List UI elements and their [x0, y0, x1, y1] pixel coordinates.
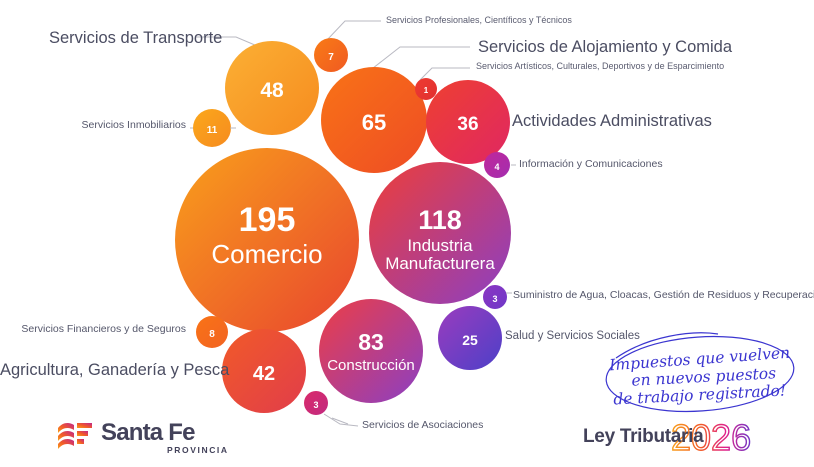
bubble-value-administrativas: 36 — [457, 114, 478, 135]
bubble-value-artisticos: 1 — [424, 86, 429, 95]
label-transporte: Servicios de Transporte — [49, 29, 222, 47]
bubble-value-profesionales: 7 — [328, 52, 334, 63]
bubble-value-agua: 3 — [492, 294, 497, 304]
santa-fe-wordmark: Santa Fe — [101, 419, 195, 447]
bubble-value-comercio: 195 — [239, 201, 296, 239]
bubble-value-inmobiliarios: 11 — [207, 125, 218, 136]
label-administrativas: Actividades Administrativas — [512, 112, 712, 130]
label-agricultura: Agricultura, Ganadería y Pesca — [0, 361, 222, 379]
label-inmobiliarios: Servicios Inmobiliarios — [0, 120, 186, 132]
bubble-value-construccion: 83 — [358, 329, 384, 355]
bubble-value-transporte: 48 — [260, 79, 284, 102]
bubble-value-salud: 25 — [462, 332, 478, 348]
handwritten-callout: Impuestos que vuelven en nuevos puestos … — [600, 330, 800, 418]
bubble-value-industria: 118 — [418, 205, 462, 235]
bubble-label-industria-line1: Industria — [407, 236, 473, 255]
bubble-label-industria-line2: Manufacturera — [385, 254, 495, 273]
bubble-value-agricultura: 42 — [253, 363, 275, 385]
santa-fe-subtitle: PROVINCIA — [167, 445, 229, 455]
infographic-canvas: 195 Comercio 118 Industria Manufacturera… — [0, 0, 814, 467]
label-alojamiento: Servicios de Alojamiento y Comida — [478, 38, 732, 56]
ley-tributaria-wordmark: Ley Tributaria — [583, 426, 703, 448]
label-artisticos: Servicios Artísticos, Culturales, Deport… — [476, 62, 724, 72]
bubble-label-comercio: Comercio — [211, 239, 322, 269]
bubble-label-construccion: Construcción — [327, 357, 415, 374]
bubble-value-alojamiento: 65 — [362, 110, 386, 135]
label-profesionales: Servicios Profesionales, Científicos y T… — [386, 16, 572, 26]
leader-profesionales — [327, 21, 381, 40]
bubble-value-asociaciones: 3 — [313, 400, 318, 410]
label-asociaciones: Servicios de Asociaciones — [362, 420, 483, 432]
label-financieros: Servicios Financieros y de Seguros — [0, 324, 186, 336]
label-agua: Suministro de Agua, Cloacas, Gestión de … — [513, 290, 814, 302]
label-informacion: Información y Comunicaciones — [519, 159, 663, 171]
bubble-value-financieros: 8 — [209, 329, 215, 340]
ley-tributaria-lockup: Ley Tributaria 2026 — [583, 418, 753, 458]
santa-fe-logo: Santa Fe PROVINCIA — [57, 418, 267, 460]
santa-fe-mark-icon — [57, 420, 93, 450]
leader-asociaciones-2 — [324, 414, 358, 426]
bubble-value-informacion: 4 — [494, 162, 499, 172]
